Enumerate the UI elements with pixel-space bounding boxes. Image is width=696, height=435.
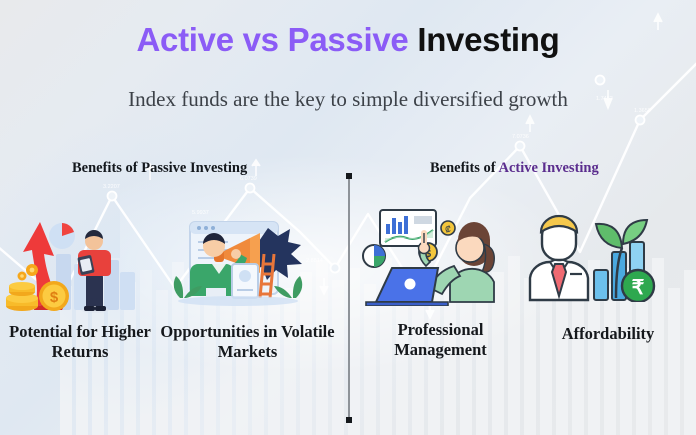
column-heading-active-plain: Benefits of — [430, 160, 498, 176]
page-title: Active vs Passive Investing — [0, 22, 696, 58]
svg-text:₹: ₹ — [632, 277, 645, 299]
center-divider — [348, 176, 350, 420]
column-heading-active-accent: Active Investing — [498, 160, 598, 176]
column-heading-passive: Benefits of Passive Investing — [72, 160, 247, 177]
column-heading-active: Benefits of Active Investing — [430, 160, 599, 177]
businessman-plant-growth-rupee-coin-illustration: ₹ — [520, 206, 696, 302]
benefit-label: Professional Management — [358, 320, 523, 360]
divider-cap-top — [346, 173, 352, 179]
red-growth-arrow-coins-analyst-illustration: $ — [0, 206, 160, 318]
title-plain: Investing — [408, 21, 559, 58]
benefit-item-opportunities-volatile-markets: Opportunities in Volatile Markets — [160, 206, 335, 362]
svg-text:$: $ — [50, 289, 59, 306]
benefit-item-professional-management: ₡ $ — [358, 206, 523, 360]
column-heading-passive-text: Benefits of Passive Investing — [72, 160, 247, 176]
svg-text:3.2207: 3.2207 — [103, 184, 120, 190]
megaphone-announcement-browser-ladder-illustration — [160, 206, 335, 318]
svg-text:1.3658: 1.3658 — [634, 108, 651, 114]
benefit-item-potential-higher-returns: $ — [0, 206, 160, 362]
page-subtitle: Index funds are the key to simple divers… — [112, 86, 584, 113]
divider-cap-bottom — [346, 417, 352, 423]
infographic-poster: 3.2207 2.8814 6.0739 5.9937 3.6529 1.745… — [0, 0, 696, 435]
benefit-label: Opportunities in Volatile Markets — [160, 322, 335, 362]
benefit-item-affordability: ₹ Affordability — [520, 206, 696, 344]
svg-text:1.7452: 1.7452 — [596, 96, 613, 102]
title-accent: Active vs Passive — [137, 21, 409, 58]
woman-laptop-analytics-coins-illustration: ₡ $ — [358, 206, 523, 306]
benefit-label: Affordability — [520, 324, 696, 344]
svg-text:7.0736: 7.0736 — [512, 134, 529, 140]
benefit-label: Potential for Higher Returns — [0, 322, 160, 362]
svg-text:₡: ₡ — [445, 225, 451, 234]
